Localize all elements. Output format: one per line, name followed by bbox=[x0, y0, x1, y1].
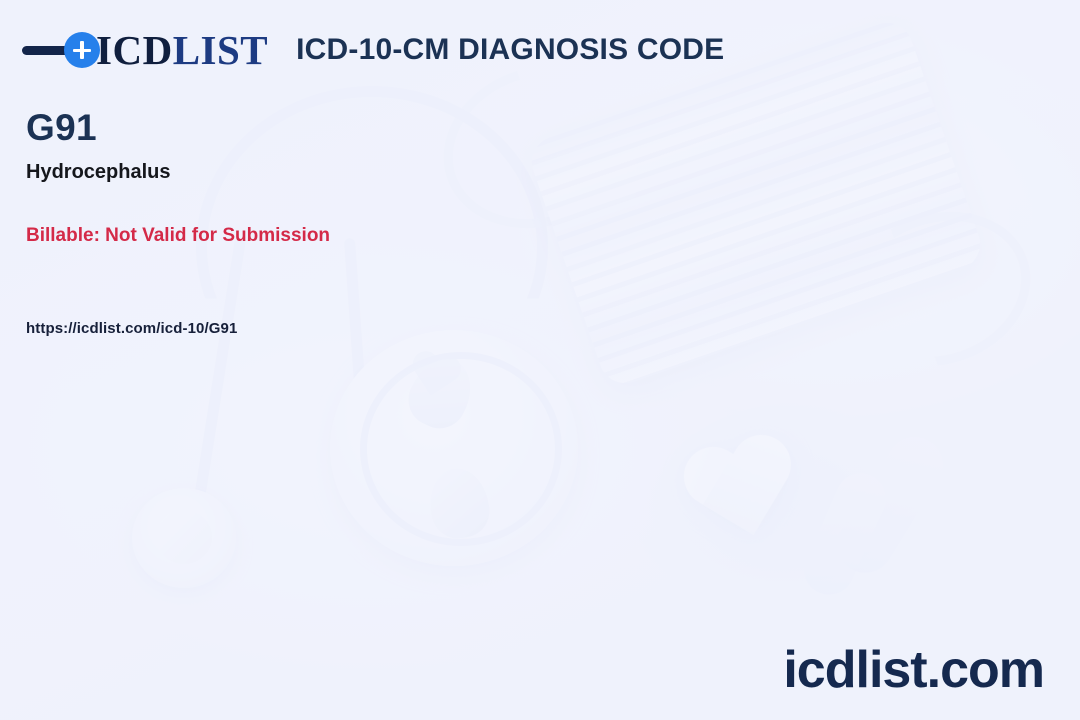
code-url[interactable]: https://icdlist.com/icd-10/G91 bbox=[26, 320, 237, 337]
diagnosis-code: G91 bbox=[26, 108, 666, 148]
stethoscope-stem-right-icon bbox=[344, 238, 371, 470]
hand-finger-icon bbox=[796, 465, 894, 602]
stethoscope-diaphragm-icon bbox=[132, 488, 236, 588]
status-badge: Billable: Not Valid for Submission bbox=[26, 225, 666, 248]
page-title: ICD-10-CM DIAGNOSIS CODE bbox=[296, 33, 724, 67]
code-details: G91 Hydrocephalus Billable: Not Valid fo… bbox=[26, 108, 666, 248]
logo-wordmark: ICDLIST bbox=[96, 26, 268, 74]
hand-finger-icon bbox=[827, 427, 954, 584]
icdlist-logo[interactable]: ICDLIST bbox=[22, 26, 268, 74]
stethoscope-bell-inner-icon bbox=[360, 352, 562, 546]
stethoscope-eartip-lower-icon bbox=[424, 463, 493, 542]
stethoscope-eartip-upper-icon bbox=[400, 349, 483, 437]
stethoscope-bell-icon bbox=[330, 330, 578, 566]
heart-icon bbox=[673, 429, 816, 572]
stethoscope-stem-left-icon bbox=[193, 237, 246, 507]
small-heart-icon bbox=[403, 349, 465, 411]
logo-wordmark-icd: ICD bbox=[96, 27, 173, 73]
diagnosis-description: Hydrocephalus bbox=[26, 160, 666, 184]
plus-vertical-bar bbox=[80, 41, 84, 59]
brand-footer: icdlist.com bbox=[783, 644, 1044, 696]
icd-code-card: ICDLIST ICD-10-CM DIAGNOSIS CODE G91 Hyd… bbox=[0, 0, 1080, 720]
dash-icon bbox=[22, 46, 70, 55]
stethoscope-diaphragm-core-icon bbox=[156, 510, 212, 564]
mask-earloop-right-icon bbox=[827, 188, 1052, 390]
plus-circle-icon bbox=[64, 32, 100, 68]
logo-wordmark-list: LIST bbox=[173, 27, 268, 73]
header: ICDLIST ICD-10-CM DIAGNOSIS CODE bbox=[0, 0, 1080, 100]
